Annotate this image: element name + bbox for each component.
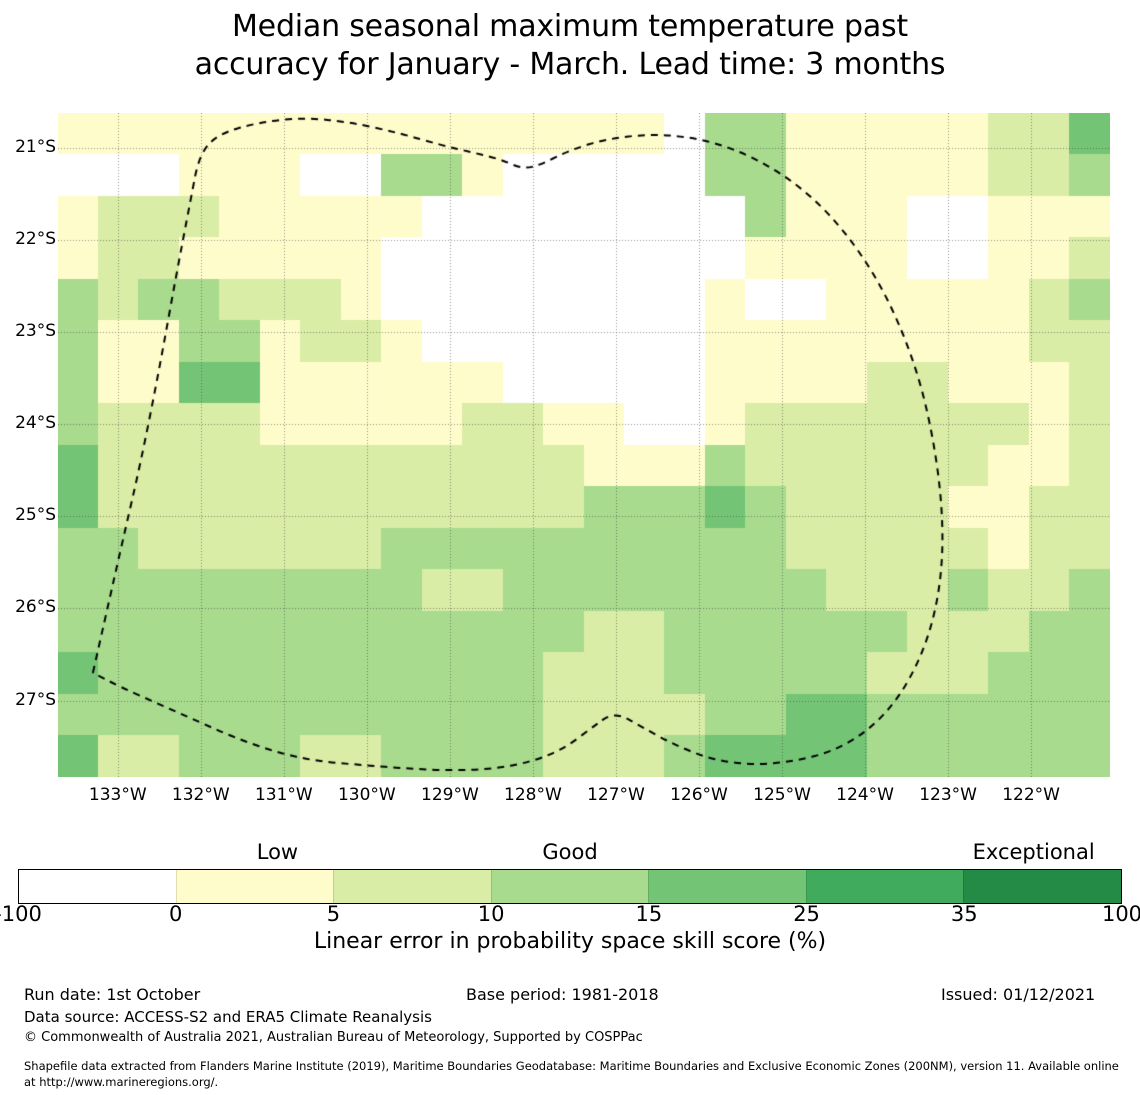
x-tick-label: 127°W (571, 786, 661, 804)
footer-shapefile-credit: Shapefile data extracted from Flanders M… (24, 1058, 1122, 1090)
colorbar-tick-label: 0 (116, 903, 236, 925)
footer-run-date: Run date: 1st October (24, 985, 200, 1004)
x-tick-label: 126°W (654, 786, 744, 804)
y-tick-label: 23°S (0, 323, 56, 340)
heatmap-plot-area (58, 113, 1110, 777)
colorbar-category-low: Low (167, 841, 387, 863)
x-tick-label: 131°W (239, 786, 329, 804)
y-tick-label: 26°S (0, 599, 56, 616)
colorbar-axis-label: Linear error in probability space skill … (0, 929, 1140, 955)
colorbar-segment-1 (176, 870, 334, 903)
x-tick-label: 122°W (986, 786, 1076, 804)
y-tick-label: 22°S (0, 231, 56, 248)
colorbar-category-exceptional: Exceptional (924, 841, 1140, 863)
colorbar-segment-2 (333, 870, 491, 903)
y-tick-label: 27°S (0, 692, 56, 709)
x-tick-label: 133°W (73, 786, 163, 804)
y-tick-label: 24°S (0, 415, 56, 432)
x-tick-label: 129°W (405, 786, 495, 804)
colorbar-segment-5 (806, 870, 964, 903)
colorbar-tick-label: 100 (1062, 903, 1140, 925)
colorbar-category-good: Good (460, 841, 680, 863)
x-tick-label: 128°W (488, 786, 578, 804)
colorbar-tick-label: 15 (589, 903, 709, 925)
footer-copyright: © Commonwealth of Australia 2021, Austra… (24, 1030, 643, 1046)
footer-issued-date: Issued: 01/12/2021 (941, 985, 1095, 1004)
colorbar-tick-label: 10 (431, 903, 551, 925)
title-line-2: accuracy for January - March. Lead time:… (0, 46, 1140, 84)
colorbar-segment-4 (648, 870, 806, 903)
colorbar-segment-3 (491, 870, 649, 903)
colorbar-segment-6 (963, 870, 1121, 903)
title-line-1: Median seasonal maximum temperature past (0, 8, 1140, 46)
heatmap-cells (58, 113, 1110, 777)
colorbar-tick-label: -100 (0, 903, 78, 925)
colorbar-segment-0 (19, 870, 176, 903)
x-tick-label: 130°W (322, 786, 412, 804)
colorbar-tick-label: 25 (747, 903, 867, 925)
colorbar-tick-label: 35 (904, 903, 1024, 925)
y-tick-label: 25°S (0, 507, 56, 524)
x-tick-label: 124°W (820, 786, 910, 804)
footer-data-source: Data source: ACCESS-S2 and ERA5 Climate … (24, 1008, 432, 1026)
x-tick-label: 125°W (737, 786, 827, 804)
page-title: Median seasonal maximum temperature past… (0, 8, 1140, 84)
y-tick-label: 21°S (0, 139, 56, 156)
x-tick-label: 123°W (903, 786, 993, 804)
x-tick-label: 132°W (156, 786, 246, 804)
colorbar (18, 869, 1122, 904)
footer-base-period: Base period: 1981-2018 (466, 985, 659, 1004)
colorbar-tick-label: 5 (273, 903, 393, 925)
